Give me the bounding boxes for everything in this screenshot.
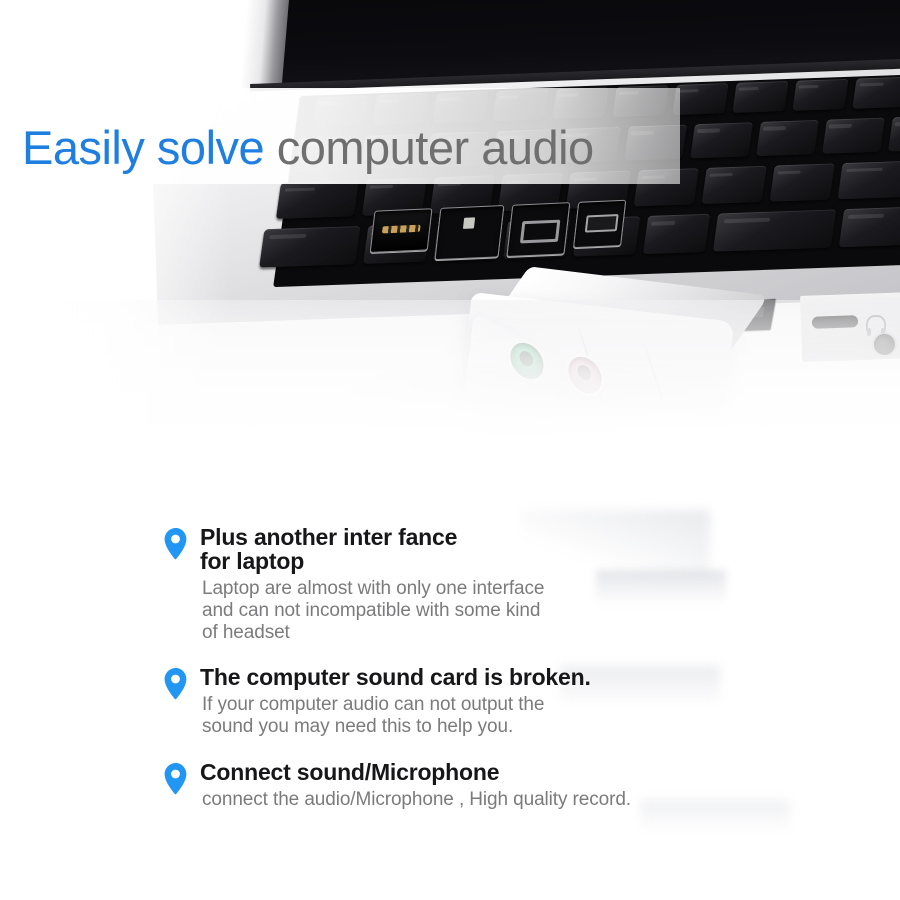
feature-item: Connect sound/Microphone connect the aud… [160,760,631,811]
photo-ghost-artifact [640,800,790,834]
thunderbolt-port [573,200,626,248]
ethernet-port [434,205,504,260]
feature-item: Plus another inter fance for laptop Lapt… [160,525,544,644]
feature-body: Laptop are almost with only one interfac… [202,578,544,644]
headline-highlight: Easily solve [22,121,264,174]
photo-fade-left [0,0,230,470]
map-pin-icon [164,763,188,795]
feature-item: The computer sound card is broken. If yo… [160,665,591,738]
feature-body: If your computer audio can not output th… [202,694,591,738]
feature-list: Plus another inter fance for laptop Lapt… [0,470,900,900]
photo-ghost-artifact [596,570,726,606]
map-pin-icon [164,668,188,700]
feature-title: Connect sound/Microphone [200,760,631,784]
map-pin-icon [164,528,188,560]
product-feature-banner: Easily solve computer audio Plus another… [0,0,900,900]
firewire-port [506,202,570,257]
feature-title: The computer sound card is broken. [200,665,591,689]
feature-body: connect the audio/Microphone , High qual… [202,789,631,811]
page-title: Easily solve computer audio [22,124,594,171]
headline-rest: computer audio [277,121,594,174]
product-photo: Easily solve computer audio [0,0,900,470]
feature-title: Plus another inter fance for laptop [200,525,544,573]
magsafe-port [370,208,433,253]
